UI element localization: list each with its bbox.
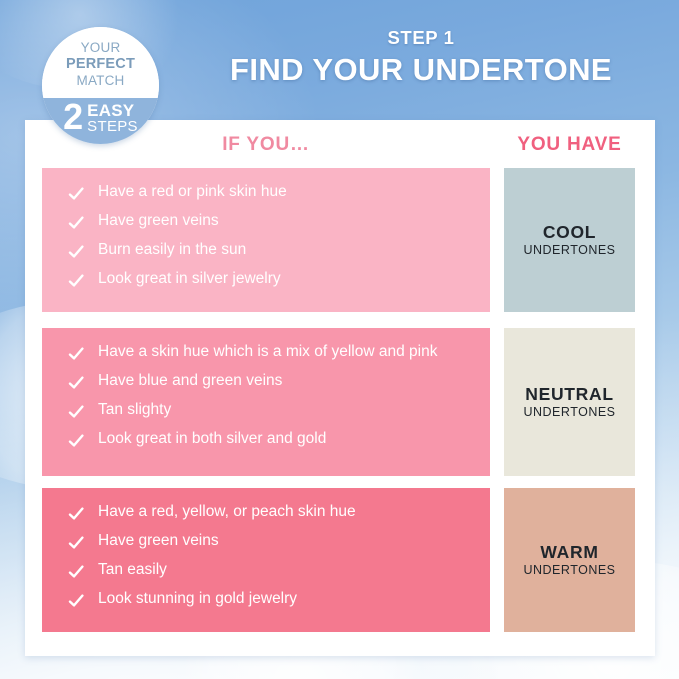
list-item: Look great in silver jewelry (68, 269, 490, 291)
header: STEP 1 FIND YOUR UNDERTONE (186, 28, 656, 88)
list-item-label: Tan easily (98, 560, 167, 580)
list-item: Tan easily (68, 560, 490, 582)
list-item-label: Have blue and green veins (98, 371, 282, 391)
list-item: Tan slighty (68, 400, 490, 422)
page-title: FIND YOUR UNDERTONE (186, 53, 656, 88)
check-icon (68, 402, 84, 422)
undertone-infographic: STEP 1 FIND YOUR UNDERTONE YOUR PERFECT … (0, 0, 679, 679)
badge-line-easy: EASY (87, 102, 138, 119)
check-icon (68, 344, 84, 364)
list-item-label: Look great in silver jewelry (98, 269, 281, 289)
list-item-label: Have a red, yellow, or peach skin hue (98, 502, 356, 522)
badge-step-count: 2 (63, 100, 83, 134)
list-item: Have green veins (68, 531, 490, 553)
column-header-you-have: YOU HAVE (504, 134, 635, 156)
check-icon (68, 504, 84, 524)
list-item: Look stunning in gold jewelry (68, 589, 490, 611)
list-item-label: Have a red or pink skin hue (98, 182, 287, 202)
criteria-panel-cool: Have a red or pink skin hue Have green v… (42, 168, 490, 312)
list-item: Have a red, yellow, or peach skin hue (68, 502, 490, 524)
list-item-label: Have green veins (98, 211, 219, 231)
list-item: Have a skin hue which is a mix of yellow… (68, 342, 490, 364)
badge-line-perfect: PERFECT (66, 56, 135, 73)
undertone-swatch-cool: COOL UNDERTONES (504, 168, 635, 312)
list-item-label: Look great in both silver and gold (98, 429, 326, 449)
criteria-panel-warm: Have a red, yellow, or peach skin hue Ha… (42, 488, 490, 632)
swatch-subtitle: UNDERTONES (523, 244, 615, 258)
step-label: STEP 1 (186, 28, 656, 48)
check-icon (68, 431, 84, 451)
check-icon (68, 373, 84, 393)
badge-steps-text: EASY STEPS (87, 100, 138, 134)
check-icon (68, 271, 84, 291)
badge-line-steps: STEPS (87, 119, 138, 134)
list-item-label: Have green veins (98, 531, 219, 551)
check-icon (68, 213, 84, 233)
check-icon (68, 184, 84, 204)
check-icon (68, 242, 84, 262)
swatch-subtitle: UNDERTONES (523, 406, 615, 420)
badge-line-your: YOUR (81, 40, 121, 56)
badge-line-match: MATCH (77, 73, 125, 89)
list-item: Have green veins (68, 211, 490, 233)
list-item: Have blue and green veins (68, 371, 490, 393)
check-icon (68, 562, 84, 582)
list-item: Burn easily in the sun (68, 240, 490, 262)
perfect-match-badge: YOUR PERFECT MATCH 2 EASY STEPS (42, 27, 159, 144)
undertone-swatch-warm: WARM UNDERTONES (504, 488, 635, 632)
list-item: Look great in both silver and gold (68, 429, 490, 451)
swatch-name: WARM (540, 543, 598, 562)
swatch-name: COOL (543, 223, 596, 242)
column-header-if-you: IF YOU… (42, 134, 490, 156)
check-icon (68, 533, 84, 553)
list-item-label: Tan slighty (98, 400, 171, 420)
list-item-label: Look stunning in gold jewelry (98, 589, 297, 609)
list-item-label: Burn easily in the sun (98, 240, 246, 260)
undertone-swatch-neutral: NEUTRAL UNDERTONES (504, 328, 635, 476)
swatch-subtitle: UNDERTONES (523, 564, 615, 578)
list-item-label: Have a skin hue which is a mix of yellow… (98, 342, 437, 362)
list-item: Have a red or pink skin hue (68, 182, 490, 204)
swatch-name: NEUTRAL (525, 385, 614, 404)
check-icon (68, 591, 84, 611)
criteria-panel-neutral: Have a skin hue which is a mix of yellow… (42, 328, 490, 476)
badge-top-half: YOUR PERFECT MATCH (42, 27, 159, 98)
